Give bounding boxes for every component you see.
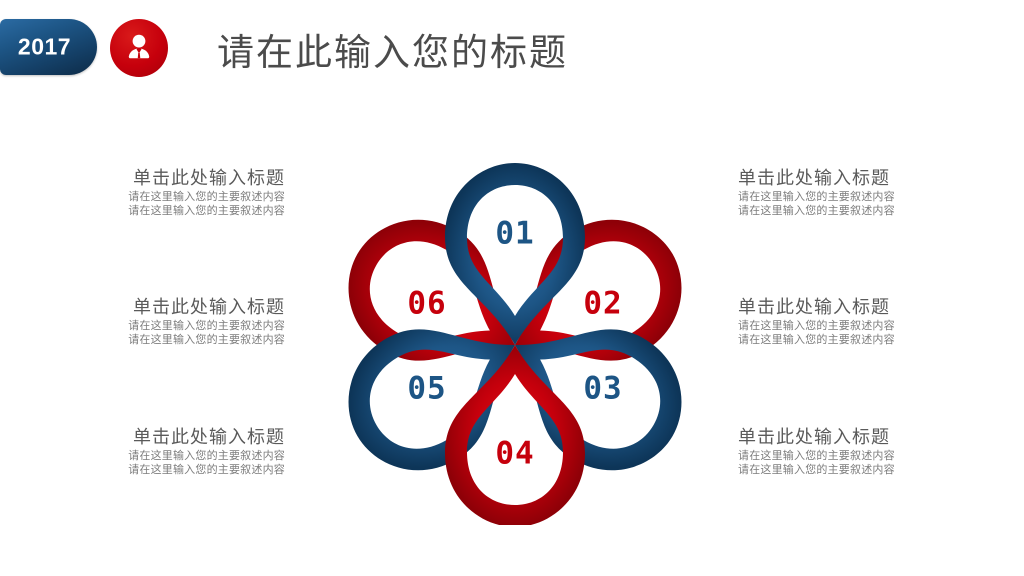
year-badge[interactable]: 2017 [0,19,97,75]
petal-02-number: 02 [583,286,622,322]
person-badge[interactable] [110,19,168,77]
petal-06-number: 06 [407,286,446,322]
text-block-05-line-1: 请在这里输入您的主要叙述内容 [28,449,288,463]
petal-05-number: 05 [407,371,446,407]
page-title: 请在此输入您的标题 [217,22,568,76]
page-header: 2017 请在此输入您的标题 [0,0,1024,96]
petal-03-number: 03 [583,371,622,407]
text-block-01-line-2: 请在这里输入您的主要叙述内容 [28,204,288,218]
flower-svg: 06 05 02 03 04 01 [335,145,695,525]
text-block-01-line-1: 请在这里输入您的主要叙述内容 [28,190,288,204]
text-block-03-title: 单击此处输入标题 [738,297,998,319]
text-block-02-title: 单击此处输入标题 [738,168,998,190]
text-block-04-line-1: 请在这里输入您的主要叙述内容 [738,449,998,463]
text-block-06-title: 单击此处输入标题 [28,297,288,319]
text-block-01[interactable]: 单击此处输入标题 请在这里输入您的主要叙述内容 请在这里输入您的主要叙述内容 [28,168,288,218]
text-block-04-title: 单击此处输入标题 [738,427,998,449]
text-block-05-line-2: 请在这里输入您的主要叙述内容 [28,463,288,477]
year-badge-label: 2017 [0,34,89,61]
text-block-06-line-1: 请在这里输入您的主要叙述内容 [28,319,288,333]
text-block-01-title: 单击此处输入标题 [28,168,288,190]
text-block-05[interactable]: 单击此处输入标题 请在这里输入您的主要叙述内容 请在这里输入您的主要叙述内容 [28,427,288,477]
text-block-02[interactable]: 单击此处输入标题 请在这里输入您的主要叙述内容 请在这里输入您的主要叙述内容 [738,168,998,218]
petal-04[interactable]: 04 [445,345,585,525]
petal-01[interactable]: 01 [445,163,585,345]
person-icon [122,31,156,65]
petal-04-number: 04 [495,436,534,472]
text-block-06[interactable]: 单击此处输入标题 请在这里输入您的主要叙述内容 请在这里输入您的主要叙述内容 [28,297,288,347]
text-block-04-line-2: 请在这里输入您的主要叙述内容 [738,463,998,477]
text-block-03[interactable]: 单击此处输入标题 请在这里输入您的主要叙述内容 请在这里输入您的主要叙述内容 [738,297,998,347]
text-block-06-line-2: 请在这里输入您的主要叙述内容 [28,333,288,347]
six-petal-flower-diagram: 06 05 02 03 04 01 [335,145,695,525]
text-block-03-line-2: 请在这里输入您的主要叙述内容 [738,333,998,347]
text-block-02-line-2: 请在这里输入您的主要叙述内容 [738,204,998,218]
petal-01-number: 01 [495,216,534,252]
text-block-05-title: 单击此处输入标题 [28,427,288,449]
text-block-02-line-1: 请在这里输入您的主要叙述内容 [738,190,998,204]
petal-01-shape [445,163,585,345]
text-block-04[interactable]: 单击此处输入标题 请在这里输入您的主要叙述内容 请在这里输入您的主要叙述内容 [738,427,998,477]
text-block-03-line-1: 请在这里输入您的主要叙述内容 [738,319,998,333]
